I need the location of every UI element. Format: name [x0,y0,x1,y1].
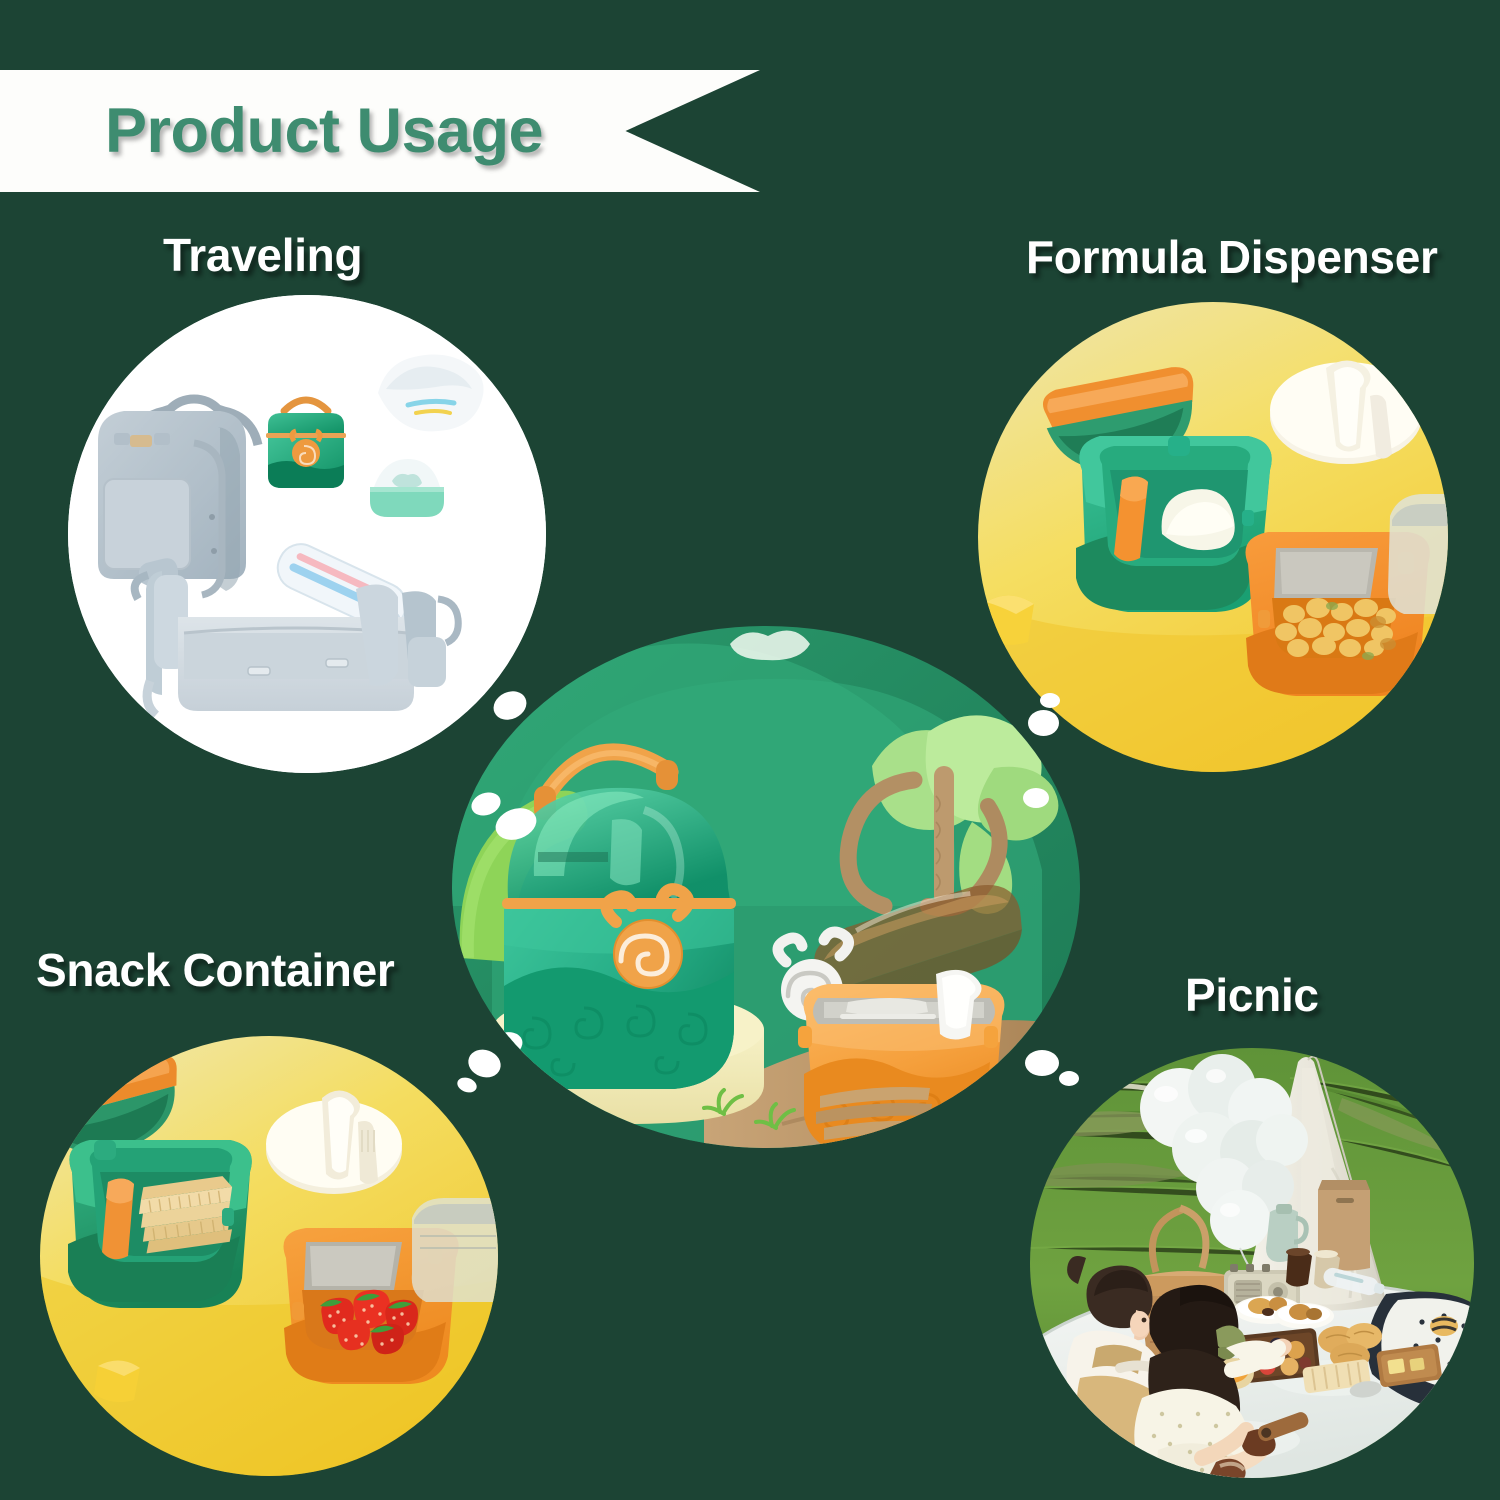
section-label-picnic: Picnic [1185,968,1319,1022]
center-product-illustration [452,626,1080,1148]
section-label-traveling: Traveling [163,228,362,282]
page-title: Product Usage [0,95,543,167]
deco-dot [1025,1050,1059,1076]
picnic-illustration [1030,1048,1474,1478]
snack-container-illustration [40,1036,498,1476]
deco-dot [1059,1071,1079,1086]
deco-dot [1028,710,1059,736]
snack-container-photo [40,1036,498,1476]
deco-dot [1040,693,1060,708]
section-label-formula-dispenser: Formula Dispenser [1026,230,1438,284]
picnic-photo [1030,1048,1474,1478]
banner-ribbon: Product Usage [0,70,760,192]
center-product-photo [452,626,1080,1148]
section-label-snack-container: Snack Container [36,943,395,997]
